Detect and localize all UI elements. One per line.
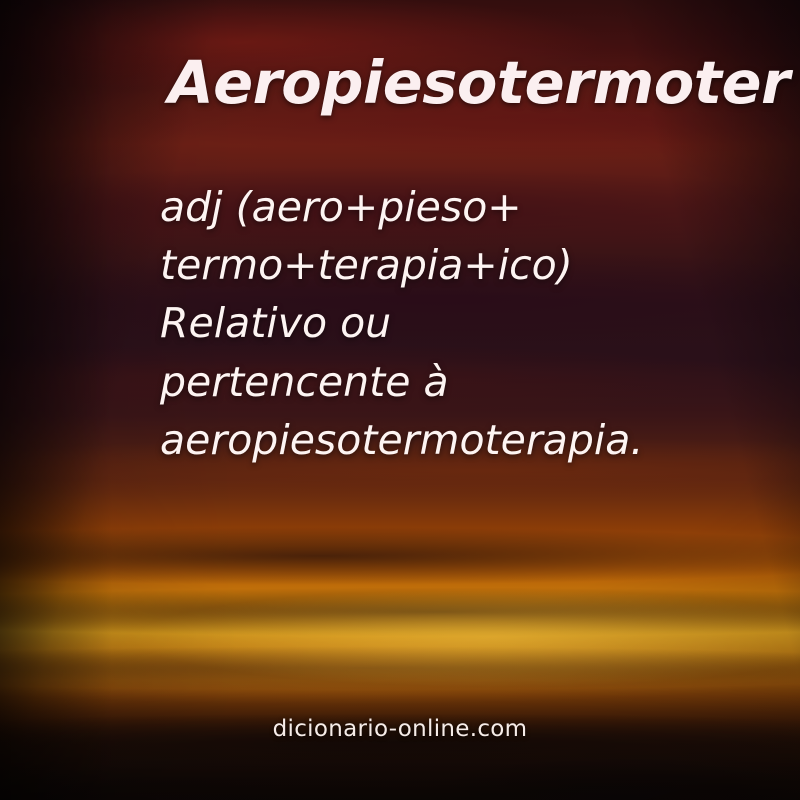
definition-line: aeropiesotermoterapia. <box>160 411 720 469</box>
card-content: Aeropiesotermoter adj (aero+pieso+ termo… <box>0 0 800 800</box>
definition-line: Relativo ou <box>160 294 720 352</box>
definition-line: termo+terapia+ico) <box>160 236 720 294</box>
definition-line: adj (aero+pieso+ <box>160 178 720 236</box>
headword-title: Aeropiesotermoter <box>168 52 800 114</box>
word-card: Aeropiesotermoter adj (aero+pieso+ termo… <box>0 0 800 800</box>
definition-line: pertencente à <box>160 353 720 411</box>
site-watermark: dicionario-online.com <box>0 716 800 742</box>
definition-block: adj (aero+pieso+ termo+terapia+ico) Rela… <box>160 178 720 469</box>
